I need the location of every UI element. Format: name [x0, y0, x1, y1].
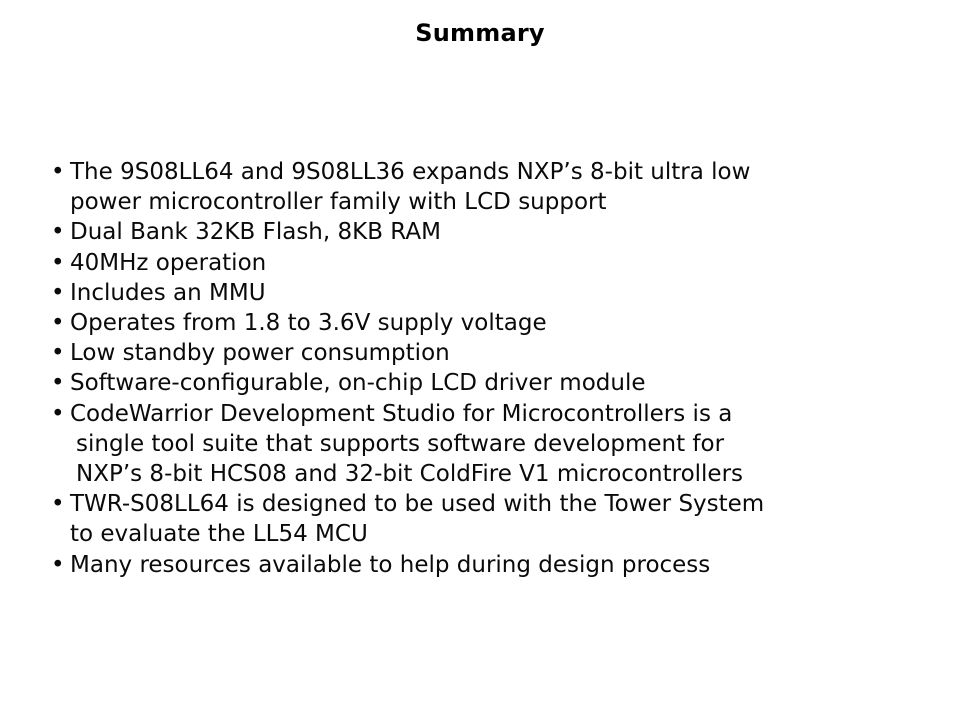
list-item: •The 9S08LL64 and 9S08LL36 expands NXP’s…	[48, 157, 928, 217]
list-item: •TWR-S08LL64 is designed to be used with…	[48, 489, 928, 549]
list-item-text: Low standby power consumption	[70, 338, 928, 368]
list-item-text-continuation: NXP’s 8-bit HCS08 and 32-bit ColdFire V1…	[70, 459, 928, 489]
presentation-slide: Summary •The 9S08LL64 and 9S08LL36 expan…	[0, 0, 960, 720]
list-item-text: Many resources available to help during …	[70, 550, 928, 580]
list-item-text: TWR-S08LL64 is designed to be used with …	[70, 489, 928, 519]
list-item: •Operates from 1.8 to 3.6V supply voltag…	[48, 308, 928, 338]
bullet-dot-icon: •	[51, 550, 65, 580]
bullet-dot-icon: •	[51, 368, 65, 398]
bullet-dot-icon: •	[51, 217, 65, 247]
list-item-text-continuation: power microcontroller family with LCD su…	[70, 187, 928, 217]
bullet-dot-icon: •	[51, 399, 65, 429]
list-item-text-continuation: single tool suite that supports software…	[70, 429, 928, 459]
list-item-text: Dual Bank 32KB Flash, 8KB RAM	[70, 217, 928, 247]
bullet-dot-icon: •	[51, 157, 65, 187]
list-item: •Software-configurable, on-chip LCD driv…	[48, 368, 928, 398]
page-title: Summary	[0, 17, 960, 49]
list-item-text: The 9S08LL64 and 9S08LL36 expands NXP’s …	[70, 157, 928, 187]
list-item-text: Operates from 1.8 to 3.6V supply voltage	[70, 308, 928, 338]
list-item: •Many resources available to help during…	[48, 550, 928, 580]
list-item: •40MHz operation	[48, 248, 928, 278]
bullet-dot-icon: •	[51, 278, 65, 308]
list-item: •Low standby power consumption	[48, 338, 928, 368]
bullet-dot-icon: •	[51, 338, 65, 368]
bullet-dot-icon: •	[51, 489, 65, 519]
list-item: •Includes an MMU	[48, 278, 928, 308]
list-item-text-continuation: to evaluate the LL54 MCU	[70, 519, 928, 549]
bullet-dot-icon: •	[51, 248, 65, 278]
summary-bullet-list: •The 9S08LL64 and 9S08LL36 expands NXP’s…	[48, 157, 928, 580]
list-item-text: Includes an MMU	[70, 278, 928, 308]
list-item-text: 40MHz operation	[70, 248, 928, 278]
list-item: •CodeWarrior Development Studio for Micr…	[48, 399, 928, 490]
list-item: •Dual Bank 32KB Flash, 8KB RAM	[48, 217, 928, 247]
list-item-text: Software-configurable, on-chip LCD drive…	[70, 368, 928, 398]
list-item-text: CodeWarrior Development Studio for Micro…	[70, 399, 928, 429]
bullet-dot-icon: •	[51, 308, 65, 338]
